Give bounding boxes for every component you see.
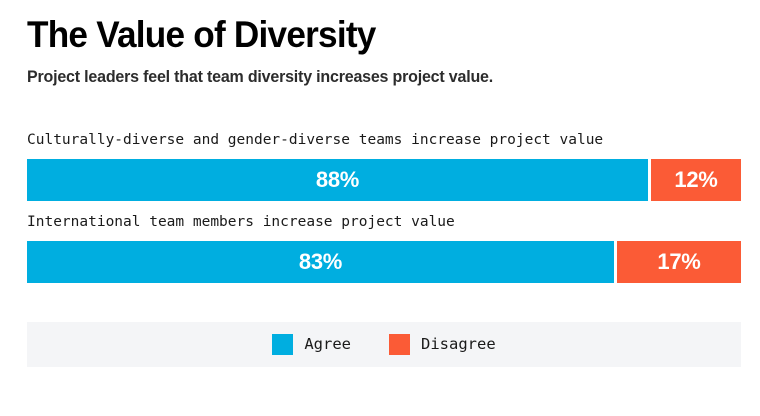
legend-swatch-icon <box>389 334 410 355</box>
bar-segment-agree[interactable]: 83% <box>27 241 614 283</box>
page-title: The Value of Diversity <box>27 14 705 56</box>
bar-row-label: International team members increase proj… <box>27 212 741 232</box>
legend-item-agree[interactable]: Agree <box>272 334 351 355</box>
legend-swatch-icon <box>272 334 293 355</box>
bar-segment-disagree[interactable]: 17% <box>617 241 741 283</box>
bar-segment-agree-value: 88% <box>316 159 359 201</box>
bar-segment-agree-value: 83% <box>299 241 342 283</box>
legend-item-disagree[interactable]: Disagree <box>389 334 496 355</box>
bar-track: 83% 17% <box>27 241 741 283</box>
bar-row: Culturally-diverse and gender-diverse te… <box>27 130 741 201</box>
bar-segment-disagree-value: 12% <box>674 159 717 201</box>
chart-legend: Agree Disagree <box>27 322 741 367</box>
bar-chart: Culturally-diverse and gender-diverse te… <box>27 130 741 294</box>
legend-item-label: Agree <box>304 334 351 355</box>
bar-segment-agree[interactable]: 88% <box>27 159 648 201</box>
page-subtitle: Project leaders feel that team diversity… <box>27 66 720 88</box>
bar-track: 88% 12% <box>27 159 741 201</box>
header: The Value of Diversity Project leaders f… <box>27 14 741 88</box>
bar-segment-disagree[interactable]: 12% <box>651 159 741 201</box>
legend-item-label: Disagree <box>421 334 496 355</box>
infographic-canvas: The Value of Diversity Project leaders f… <box>0 0 760 416</box>
bar-row: International team members increase proj… <box>27 212 741 283</box>
bar-row-label: Culturally-diverse and gender-diverse te… <box>27 130 741 150</box>
bar-segment-disagree-value: 17% <box>657 241 700 283</box>
